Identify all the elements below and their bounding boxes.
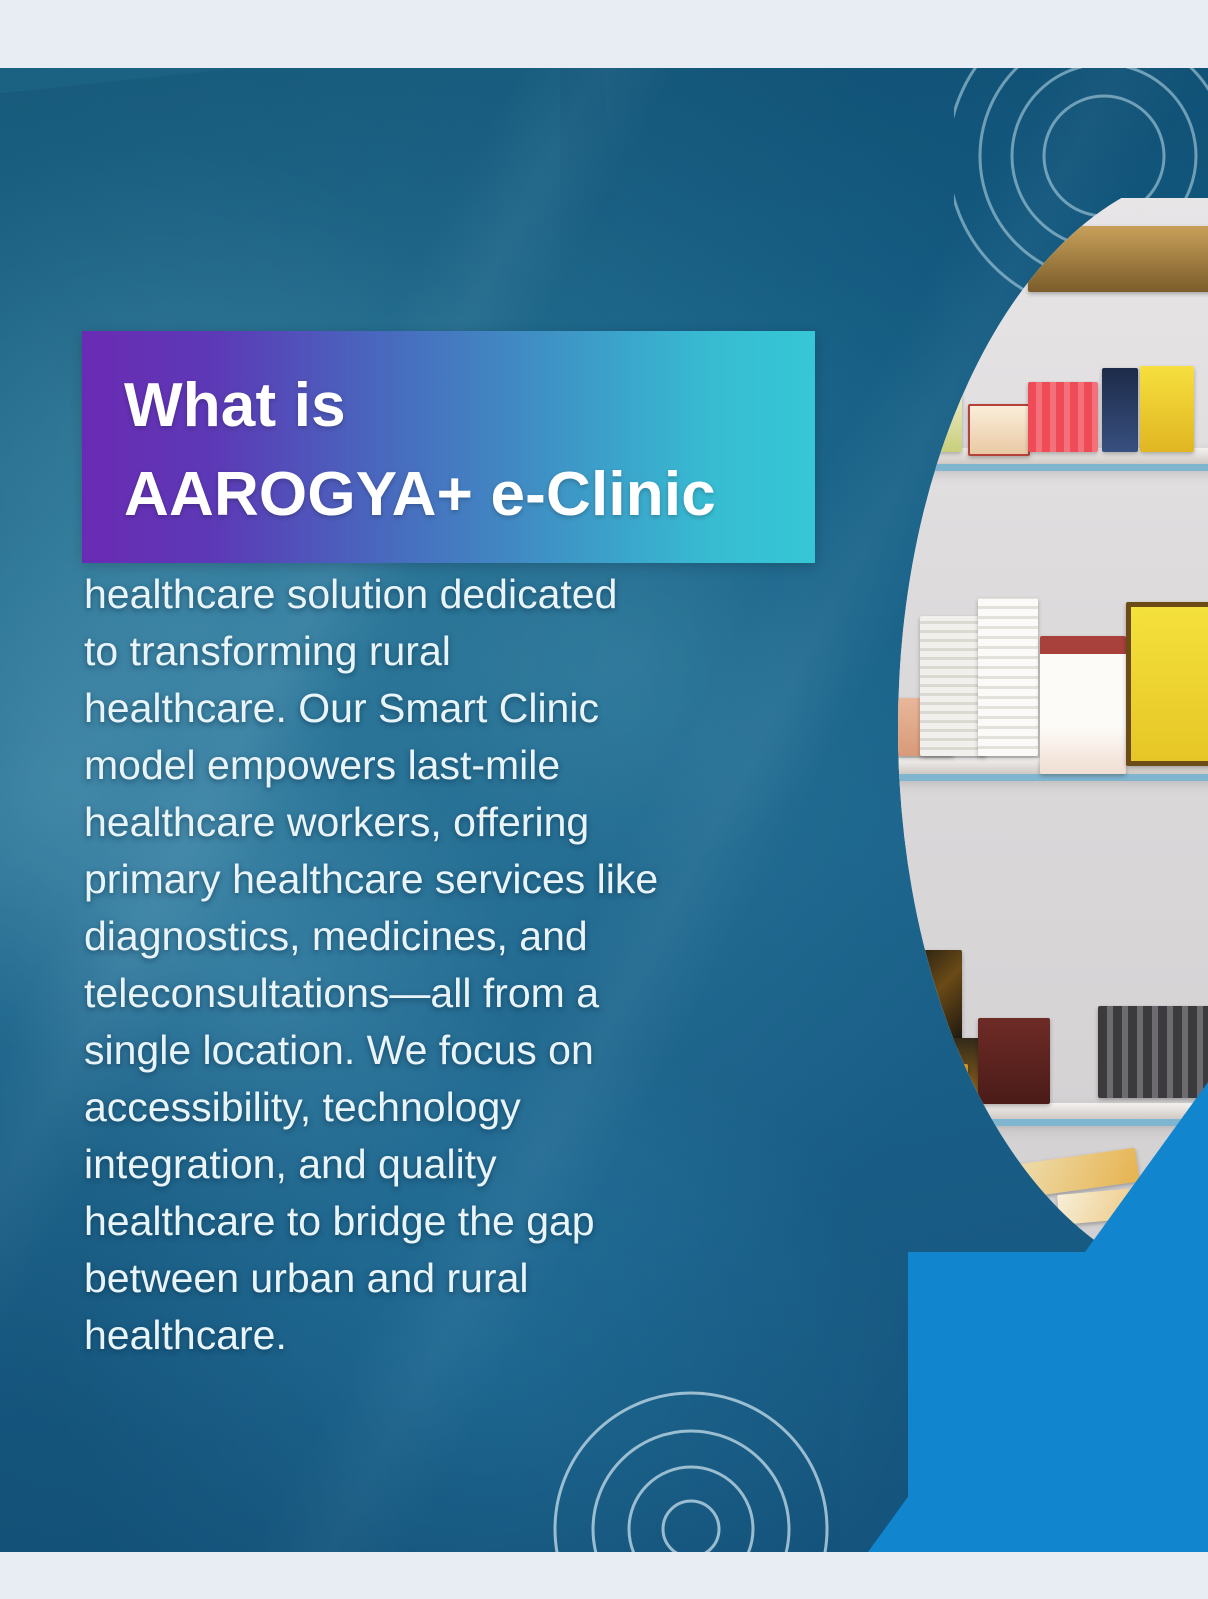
body-line: primary healthcare services like <box>84 851 764 908</box>
product-box <box>978 1018 1050 1104</box>
product-box <box>920 616 986 756</box>
shelf-board <box>728 1103 1208 1119</box>
body-line: healthcare. <box>84 1307 764 1364</box>
product-box <box>792 950 962 1046</box>
shelf-lip <box>728 774 1208 781</box>
product-box <box>836 380 878 452</box>
slide-page: What is AAROGYA+ e-Clinic healthcare sol… <box>0 0 1208 1599</box>
product-box <box>1040 636 1126 774</box>
product-box <box>838 660 896 756</box>
product-box <box>978 598 1038 756</box>
heading-text: What is AAROGYA+ e-Clinic <box>124 361 795 540</box>
product-box <box>768 1064 968 1104</box>
product-box <box>1098 1006 1208 1098</box>
product-box <box>1126 602 1208 766</box>
product-box <box>1102 368 1138 452</box>
body-line: healthcare solution dedicated <box>84 566 764 623</box>
body-line: accessibility, technology <box>84 1079 764 1136</box>
product-box <box>924 394 962 452</box>
product-box <box>1140 366 1194 452</box>
body-line: integration, and quality <box>84 1136 764 1193</box>
product-box <box>776 668 838 756</box>
product-box <box>782 1038 982 1104</box>
body-line: between urban and rural <box>84 1250 764 1307</box>
body-line: diagnostics, medicines, and <box>84 908 764 965</box>
product-box <box>880 378 920 452</box>
body-line: healthcare workers, offering <box>84 794 764 851</box>
body-line: teleconsultations—all from a <box>84 965 764 1022</box>
body-line: healthcare to bridge the gap <box>84 1193 764 1250</box>
body-line: healthcare. Our Smart Clinic <box>84 680 764 737</box>
blue-triangle-shape-corner <box>908 1252 1208 1552</box>
body-line: single location. We focus on <box>84 1022 764 1079</box>
heading-line-2: AAROGYA+ e-Clinic <box>124 450 795 539</box>
body-line: to transforming rural <box>84 623 764 680</box>
heading-banner: What is AAROGYA+ e-Clinic <box>82 331 815 563</box>
body-paragraph: healthcare solution dedicated to transfo… <box>84 566 764 1364</box>
body-line: model empowers last-mile <box>84 737 764 794</box>
slide-card: What is AAROGYA+ e-Clinic healthcare sol… <box>0 68 1208 1552</box>
product-box <box>968 404 1030 456</box>
product-box <box>1028 382 1098 452</box>
heading-line-1: What is <box>124 361 795 450</box>
product-box <box>1028 226 1208 292</box>
shelf-lip <box>728 1119 1208 1126</box>
